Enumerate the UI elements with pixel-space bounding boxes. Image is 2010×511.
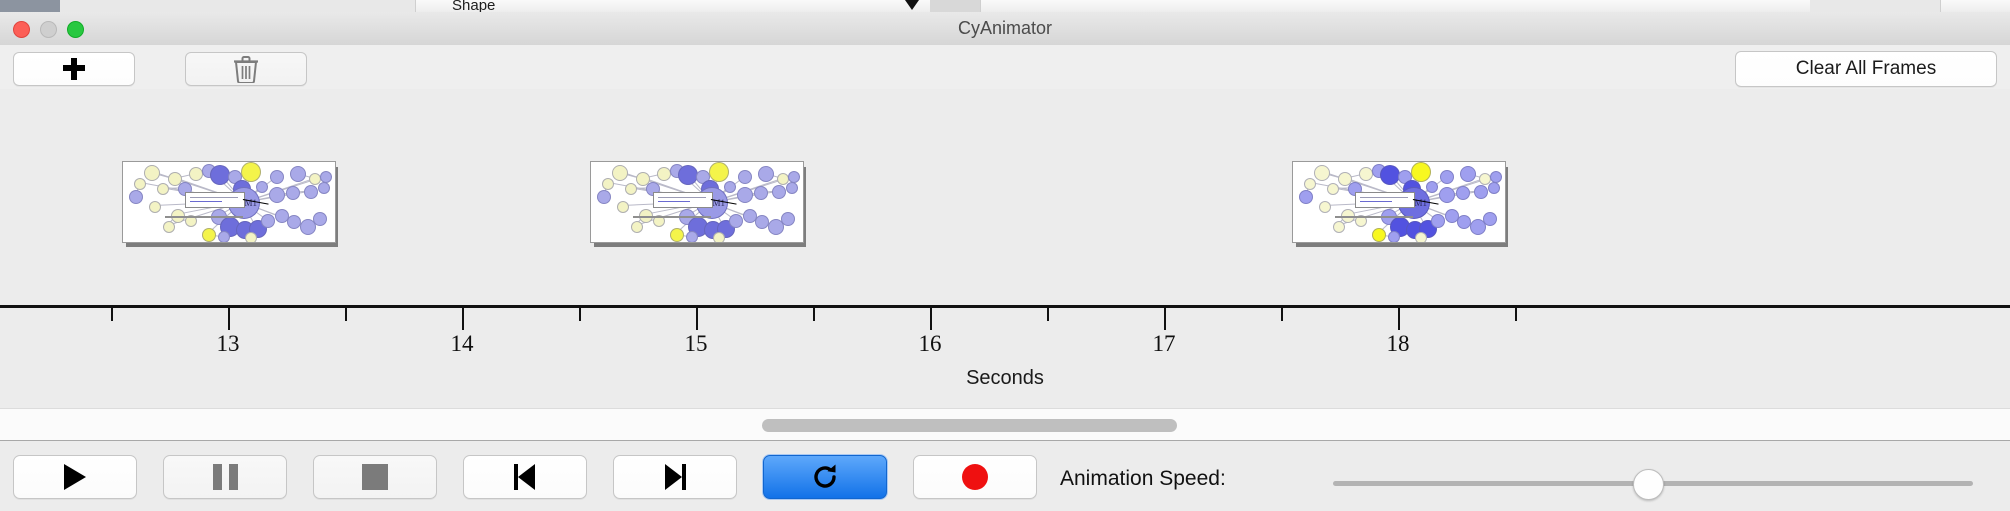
graph-caption (633, 216, 711, 218)
loop-icon (810, 462, 840, 492)
graph-node (781, 212, 795, 226)
graph-node (625, 183, 637, 195)
skip-back-icon (512, 464, 538, 490)
axis-line (0, 305, 2010, 308)
cyanimator-window: Shape CyAnimator Clear All Frames (0, 0, 2010, 510)
timeline-axis: 131415161718 Seconds (0, 305, 2010, 405)
axis-tick-minor (813, 308, 815, 321)
frame-thumbnail: MCM1 (590, 161, 804, 243)
axis-title: Seconds (0, 367, 2010, 390)
axis-tick-major (1398, 308, 1400, 330)
graph-node (313, 212, 327, 226)
axis-tick-minor (1281, 308, 1283, 321)
title-bar[interactable]: CyAnimator (0, 12, 2010, 46)
background-window-cell (930, 0, 981, 12)
background-window-cell (1870, 0, 1941, 12)
tooltip-text-line (190, 201, 222, 202)
graph-node (270, 170, 284, 184)
tooltip-text-line (1360, 201, 1392, 202)
graph-node (602, 178, 614, 190)
graph-node (1456, 186, 1470, 200)
horizontal-scrollbar[interactable] (0, 408, 2010, 441)
graph-node (218, 231, 230, 243)
graph-node (320, 171, 332, 183)
pause-button[interactable] (163, 455, 287, 499)
graph-node (1388, 231, 1400, 243)
background-window-cell (345, 0, 416, 12)
graph-node (1439, 187, 1455, 203)
graph-node (1460, 166, 1476, 182)
graph-node (1490, 171, 1502, 183)
delete-frame-button[interactable] (185, 52, 307, 86)
playback-controls: Animation Speed: (0, 440, 2010, 511)
graph-node (670, 228, 684, 242)
graph-node (657, 167, 671, 181)
axis-tick-minor (1515, 308, 1517, 321)
graph-node (1426, 181, 1438, 193)
graph-node (129, 190, 143, 204)
graph-node (1372, 228, 1386, 242)
graph-node (304, 185, 318, 199)
graph-node (772, 185, 786, 199)
next-frame-button[interactable] (613, 455, 737, 499)
previous-frame-button[interactable] (463, 455, 587, 499)
graph-node (1327, 183, 1339, 195)
add-frame-button[interactable] (13, 52, 135, 86)
graph-node (1411, 162, 1431, 182)
graph-caption (1335, 216, 1413, 218)
stop-button[interactable] (313, 455, 437, 499)
graph-node (754, 186, 768, 200)
graph-node (1440, 170, 1454, 184)
axis-tick-major (228, 308, 230, 330)
window-title: CyAnimator (0, 12, 2010, 45)
graph-node (738, 170, 752, 184)
toolbar: Clear All Frames (0, 45, 2010, 90)
graph-node (261, 214, 275, 228)
timeline-frame[interactable]: MCM1 (1292, 161, 1504, 241)
trash-icon (233, 55, 259, 83)
play-button[interactable] (13, 455, 137, 499)
graph-node (713, 232, 725, 243)
graph-node (788, 171, 800, 183)
pause-icon (213, 464, 238, 490)
graph-node (729, 214, 743, 228)
axis-tick-label: 16 (919, 331, 942, 357)
graph-node (1483, 212, 1497, 226)
graph-node (758, 166, 774, 182)
scrollbar-thumb[interactable] (762, 419, 1177, 432)
graph-node (631, 221, 643, 233)
frame-thumbnail: MCM1 (1292, 161, 1506, 243)
graph-node (786, 182, 798, 194)
background-window-cell (235, 0, 286, 12)
graph-node (1431, 214, 1445, 228)
graph-caption (165, 216, 243, 218)
graph-node (241, 162, 261, 182)
graph-node (149, 201, 161, 213)
tooltip-text-line (658, 201, 690, 202)
graph-node (256, 181, 268, 193)
graph-node (1299, 190, 1313, 204)
axis-tick-label: 15 (685, 331, 708, 357)
graph-node (1333, 221, 1345, 233)
record-icon (962, 464, 988, 490)
background-window-cell (165, 0, 236, 12)
axis-tick-minor (345, 308, 347, 321)
axis-tick-minor (1047, 308, 1049, 321)
timeline-panel[interactable]: MCM1 MCM1 MCM1 (0, 89, 2010, 307)
play-icon (64, 464, 86, 490)
graph-node (286, 186, 300, 200)
graph-node (612, 165, 628, 181)
background-window-cell (1810, 0, 1871, 12)
graph-node (290, 166, 306, 182)
background-window-caret-icon (905, 0, 919, 10)
graph-node (1319, 201, 1331, 213)
graph-node (617, 201, 629, 213)
axis-tick-label: 14 (451, 331, 474, 357)
graph-tooltip (1355, 192, 1415, 208)
graph-node (163, 221, 175, 233)
graph-node (287, 215, 301, 229)
plus-icon (62, 57, 86, 81)
animation-speed-slider-thumb[interactable] (1633, 469, 1664, 500)
graph-node (202, 228, 216, 242)
axis-tick-major (462, 308, 464, 330)
axis-tick-major (930, 308, 932, 330)
graph-node (245, 232, 257, 243)
graph-node (597, 190, 611, 204)
timeline-frame[interactable]: MCM1 (590, 161, 802, 241)
skip-forward-icon (662, 464, 688, 490)
graph-node (1457, 215, 1471, 229)
loop-button[interactable] (763, 455, 887, 499)
graph-node (709, 162, 729, 182)
axis-tick-major (1164, 308, 1166, 330)
axis-tick-major (696, 308, 698, 330)
axis-tick-minor (579, 308, 581, 321)
background-window-cell (285, 0, 346, 12)
axis-tick-label: 18 (1387, 331, 1410, 357)
stop-icon (362, 464, 388, 490)
tooltip-text-line (658, 197, 706, 198)
frame-thumbnail: MCM1 (122, 161, 336, 243)
graph-node (1415, 232, 1427, 243)
background-window-sidebar (0, 0, 60, 12)
tooltip-text-line (190, 197, 238, 198)
graph-node (1488, 182, 1500, 194)
record-button[interactable] (913, 455, 1037, 499)
graph-node (189, 167, 203, 181)
graph-tooltip (653, 192, 713, 208)
graph-node (1304, 178, 1316, 190)
graph-node (269, 187, 285, 203)
graph-node (144, 165, 160, 181)
graph-node (1474, 185, 1488, 199)
graph-node (724, 181, 736, 193)
graph-tooltip (185, 192, 245, 208)
background-window-cell (60, 0, 166, 12)
graph-node (1359, 167, 1373, 181)
timeline-frame[interactable]: MCM1 (122, 161, 334, 241)
axis-tick-label: 17 (1153, 331, 1176, 357)
graph-node (318, 182, 330, 194)
axis-tick-minor (111, 308, 113, 321)
tooltip-text-line (1360, 197, 1408, 198)
animation-speed-label: Animation Speed: (1060, 467, 1226, 491)
graph-node (1314, 165, 1330, 181)
graph-node (755, 215, 769, 229)
graph-node (134, 178, 146, 190)
axis-tick-label: 13 (217, 331, 240, 357)
graph-node (686, 231, 698, 243)
graph-node (737, 187, 753, 203)
graph-node (157, 183, 169, 195)
clear-all-frames-button[interactable]: Clear All Frames (1735, 51, 1997, 87)
